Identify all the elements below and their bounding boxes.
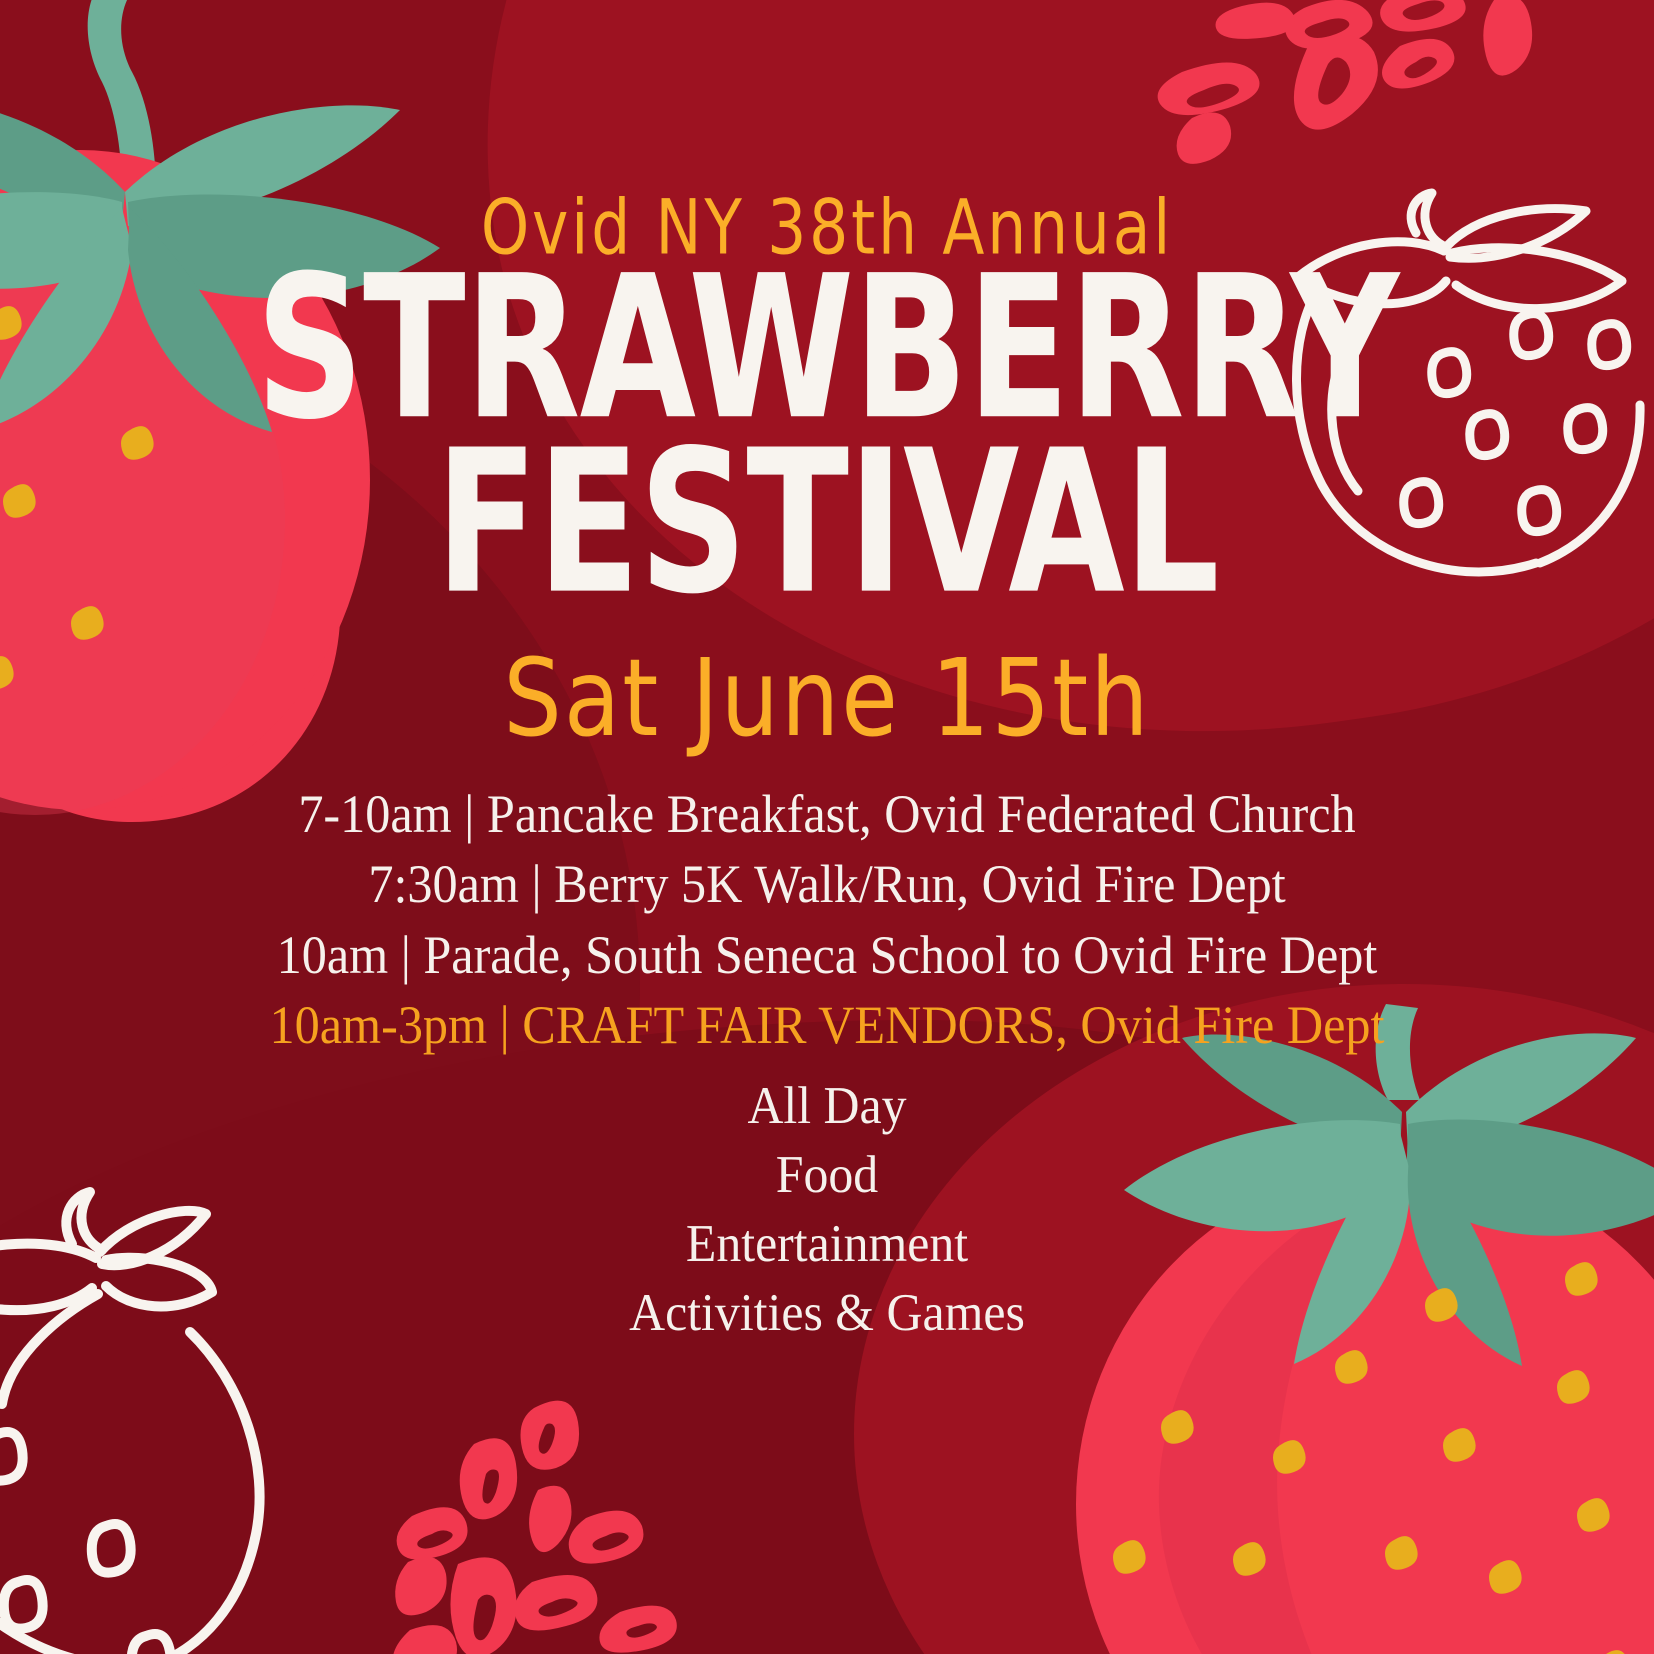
list-item-craft-fair: 10am-3pm | CRAFT FAIR VENDORS, Ovid Fire… — [58, 990, 1596, 1060]
list-item: 10am | Parade, South Seneca School to Ov… — [58, 920, 1596, 990]
page-title: STRAWBERRY FESTIVAL — [0, 226, 1654, 555]
poster-content: Ovid NY 38th Annual STRAWBERRY FESTIVAL … — [0, 0, 1654, 1348]
list-item: Entertainment — [50, 1210, 1605, 1279]
list-item: 7:30am | Berry 5K Walk/Run, Ovid Fire De… — [58, 849, 1596, 919]
seed-scatter-icon — [370, 1324, 700, 1654]
all-day-list: All Day Food Entertainment Activities & … — [0, 1060, 1654, 1348]
list-item: Food — [50, 1141, 1605, 1210]
list-item: Activities & Games — [50, 1279, 1605, 1348]
strawberry-festival-poster: Ovid NY 38th Annual STRAWBERRY FESTIVAL … — [0, 0, 1654, 1654]
list-item: All Day — [50, 1072, 1605, 1141]
poster-kicker: Ovid NY 38th Annual — [33, 0, 1621, 267]
list-item: 7-10am | Pancake Breakfast, Ovid Federat… — [58, 779, 1596, 849]
event-date: Sat June 15th — [0, 555, 1654, 752]
schedule-list: 7-10am | Pancake Breakfast, Ovid Federat… — [0, 725, 1654, 1060]
